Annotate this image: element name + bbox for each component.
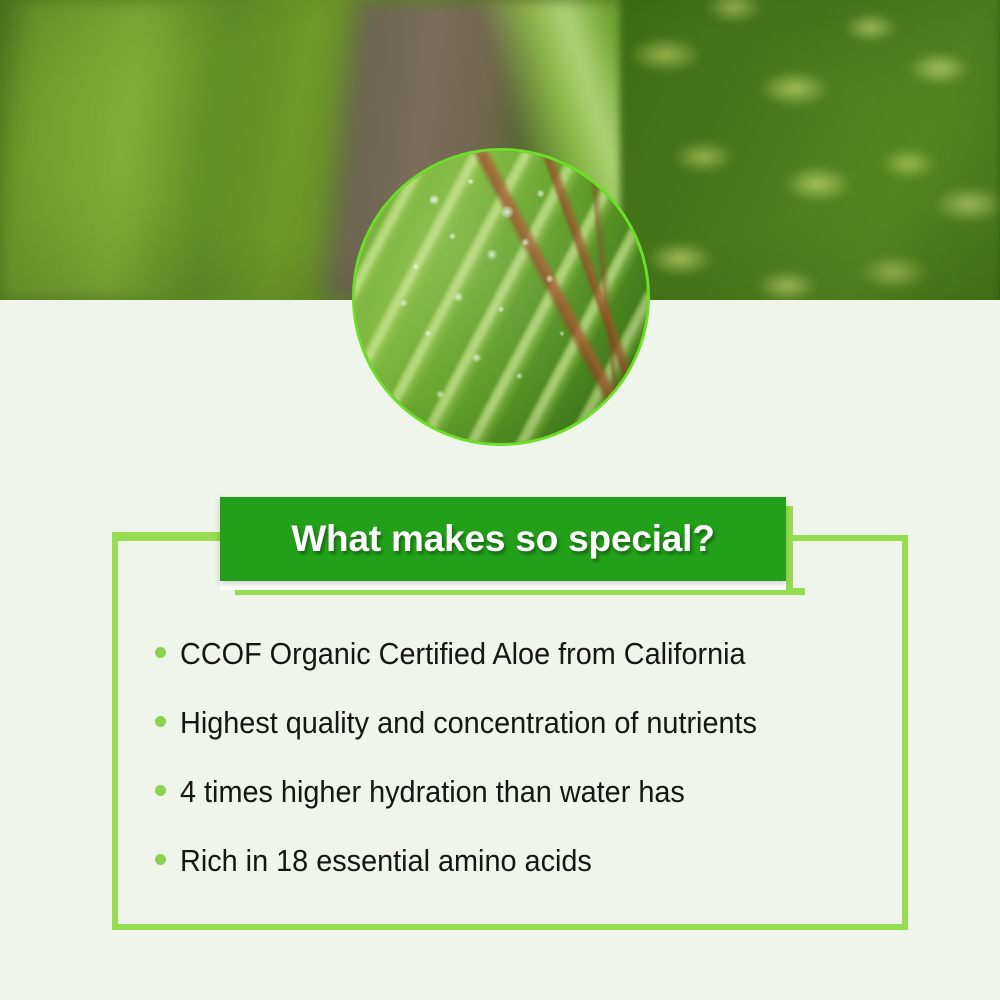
- list-item: Highest quality and concentration of nut…: [155, 707, 895, 776]
- bullet-dot-icon: [155, 647, 166, 658]
- circle-inset-photo: [352, 148, 650, 446]
- bullet-dot-icon: [155, 854, 166, 865]
- heading-right-accent-tick: [786, 506, 793, 595]
- list-item: Rich in 18 essential amino acids: [155, 845, 895, 914]
- product-infographic: What makes so special? CCOF Organic Cert…: [0, 0, 1000, 1000]
- heading-white-gap: [220, 581, 786, 590]
- bullet-dot-icon: [155, 716, 166, 727]
- list-item: CCOF Organic Certified Aloe from Califor…: [155, 638, 895, 707]
- panel-heading-box: What makes so special?: [220, 497, 786, 581]
- list-item-label: Rich in 18 essential amino acids: [180, 845, 592, 876]
- list-item-label: CCOF Organic Certified Aloe from Califor…: [180, 638, 746, 669]
- bullet-dot-icon: [155, 785, 166, 796]
- heading-left-accent-stub: [112, 532, 224, 538]
- benefits-list: CCOF Organic Certified Aloe from Califor…: [155, 638, 895, 914]
- page-title: What makes so special?: [291, 518, 714, 560]
- circle-shading-layer: [352, 148, 650, 446]
- list-item: 4 times higher hydration than water has: [155, 776, 895, 845]
- list-item-label: Highest quality and concentration of nut…: [180, 707, 757, 738]
- list-item-label: 4 times higher hydration than water has: [180, 776, 685, 807]
